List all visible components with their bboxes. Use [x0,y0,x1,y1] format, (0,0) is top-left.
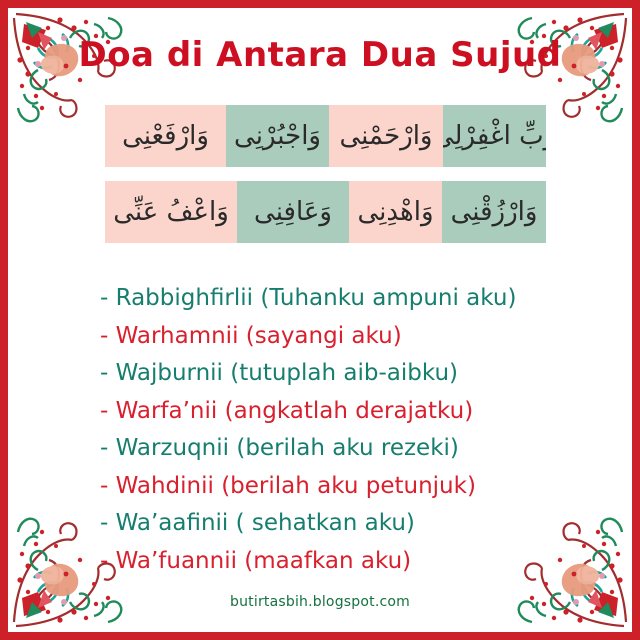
page-title: Doa di Antara Dua Sujud [8,36,632,75]
arabic-segment: وَارْحَمْنِى [329,105,443,167]
arabic-row: رَبِّ اغْفِرْلِى وَارْحَمْنِى وَاجْبُرْن… [105,105,546,167]
list-item: - Wa’aafinii ( sehatkan aku) [100,505,570,543]
list-item: - Wahdinii (berilah aku petunjuk) [100,468,570,506]
list-item: - Warhamnii (sayangi aku) [100,318,570,356]
arabic-segment: وَاهْدِنِى [349,181,442,243]
arabic-verse-blocks: رَبِّ اغْفِرْلِى وَارْحَمْنِى وَاجْبُرْن… [105,105,546,257]
arabic-segment: وَعَافِنِى [237,181,349,243]
list-item: - Warzuqnii (berilah aku rezeki) [100,430,570,468]
poster-canvas: Doa di Antara Dua Sujud رَبِّ اغْفِرْلِى… [0,0,640,640]
list-item: - Rabbighfirlii (Tuhanku ampuni aku) [100,280,570,318]
arabic-segment: وَاجْبُرْنِى [226,105,329,167]
translation-list: - Rabbighfirlii (Tuhanku ampuni aku) - W… [100,280,570,580]
list-item: - Warfa’nii (angkatlah derajatku) [100,393,570,431]
arabic-segment: وَاعْفُ عَنِّى [105,181,237,243]
footer-credit: butirtasbih.blogspot.com [8,594,632,610]
list-item: - Wajburnii (tutuplah aib-aibku) [100,355,570,393]
arabic-row: وَارْزُقْنِى وَاهْدِنِى وَعَافِنِى وَاعْ… [105,181,546,243]
arabic-segment: رَبِّ اغْفِرْلِى [443,105,546,167]
list-item: - Wa’fuannii (maafkan aku) [100,543,570,581]
arabic-segment: وَارْفَعْنِى [105,105,226,167]
arabic-segment: وَارْزُقْنِى [442,181,546,243]
